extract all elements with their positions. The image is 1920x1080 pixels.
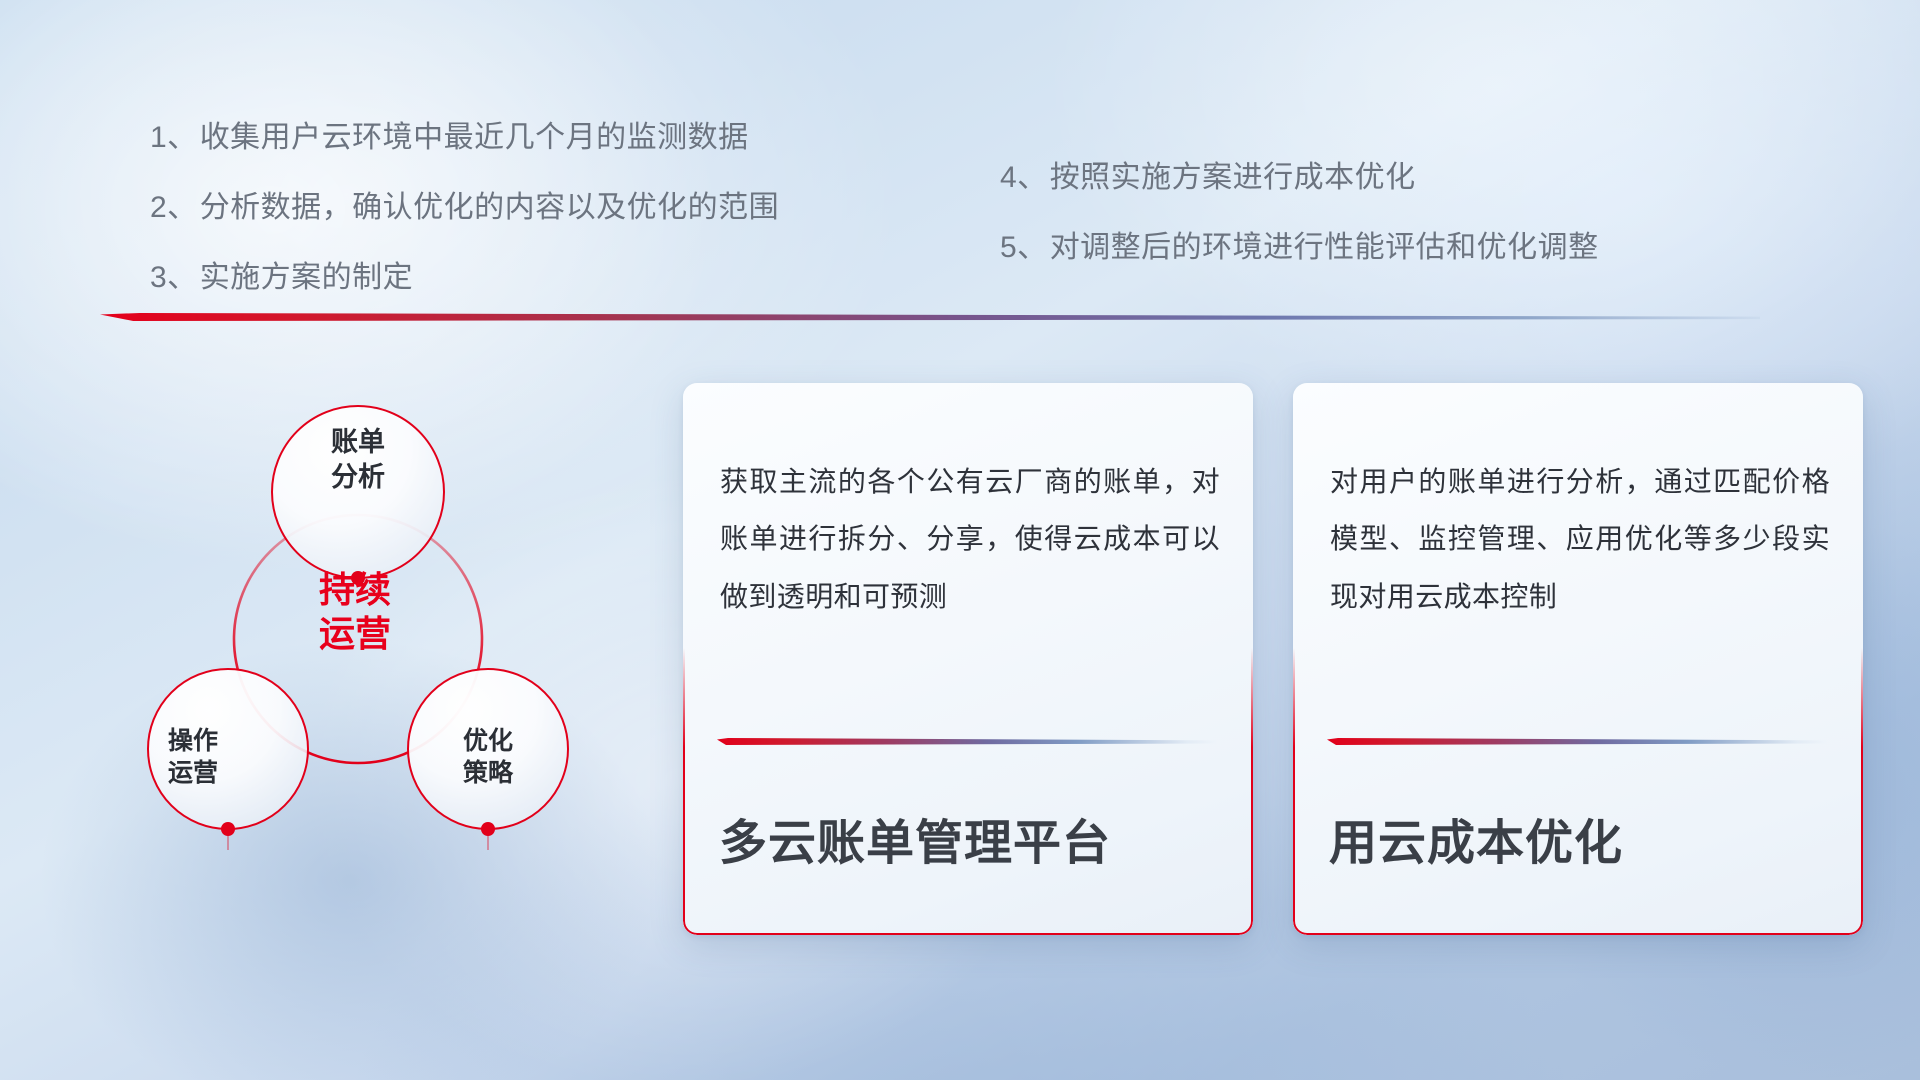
step-item: 3、 实施方案的制定 — [150, 252, 910, 296]
step-label: 对调整后的环境进行性能评估和优化调整 — [1050, 222, 1599, 266]
feature-card-cloud-cost-optimization[interactable]: 对用户的账单进行分析，通过匹配价格模型、监控管理、应用优化等多少段实现对用云成本… — [1293, 383, 1863, 935]
card-title: 多云账单管理平台 — [719, 803, 1111, 873]
card-title: 用云成本优化 — [1329, 803, 1623, 873]
section-divider-bar — [100, 313, 1760, 321]
step-number: 1、 — [150, 112, 198, 156]
step-label: 实施方案的制定 — [200, 252, 414, 296]
steps-list-left: 1、 收集用户云环境中最近几个月的监测数据 2、 分析数据，确认优化的内容以及优… — [150, 112, 910, 322]
venn-circle-top — [272, 406, 444, 578]
venn-circle-right — [408, 669, 568, 829]
step-number: 3、 — [150, 252, 198, 296]
step-label: 收集用户云环境中最近几个月的监测数据 — [200, 112, 749, 156]
step-item: 4、 按照实施方案进行成本优化 — [1000, 152, 1820, 196]
step-label: 按照实施方案进行成本优化 — [1050, 152, 1416, 196]
card-body-text: 获取主流的各个公有云厂商的账单，对账单进行拆分、分享，使得云成本可以做到透明和可… — [720, 453, 1220, 625]
card-divider — [717, 738, 1217, 745]
step-item: 2、 分析数据，确认优化的内容以及优化的范围 — [150, 182, 910, 226]
step-number: 5、 — [1000, 222, 1048, 266]
venn-diagram: 账单 分析 持续 运营 操作 运营 优化 策略 — [95, 350, 615, 850]
step-number: 4、 — [1000, 152, 1048, 196]
card-body-text: 对用户的账单进行分析，通过匹配价格模型、监控管理、应用优化等多少段实现对用云成本… — [1330, 453, 1830, 625]
step-item: 5、 对调整后的环境进行性能评估和优化调整 — [1000, 222, 1820, 266]
venn-svg — [95, 350, 615, 850]
step-label: 分析数据，确认优化的内容以及优化的范围 — [200, 182, 780, 226]
feature-card-multicloud-billing[interactable]: 获取主流的各个公有云厂商的账单，对账单进行拆分、分享，使得云成本可以做到透明和可… — [683, 383, 1253, 935]
venn-node-left — [221, 822, 235, 836]
venn-circle-left — [148, 669, 308, 829]
step-item: 1、 收集用户云环境中最近几个月的监测数据 — [150, 112, 910, 156]
card-divider — [1327, 738, 1827, 745]
venn-node-top — [351, 571, 365, 585]
step-number: 2、 — [150, 182, 198, 226]
slide-canvas: 1、 收集用户云环境中最近几个月的监测数据 2、 分析数据，确认优化的内容以及优… — [0, 0, 1920, 1080]
steps-list-right: 4、 按照实施方案进行成本优化 5、 对调整后的环境进行性能评估和优化调整 — [1000, 152, 1820, 292]
venn-node-right — [481, 822, 495, 836]
section-divider — [100, 313, 1760, 321]
